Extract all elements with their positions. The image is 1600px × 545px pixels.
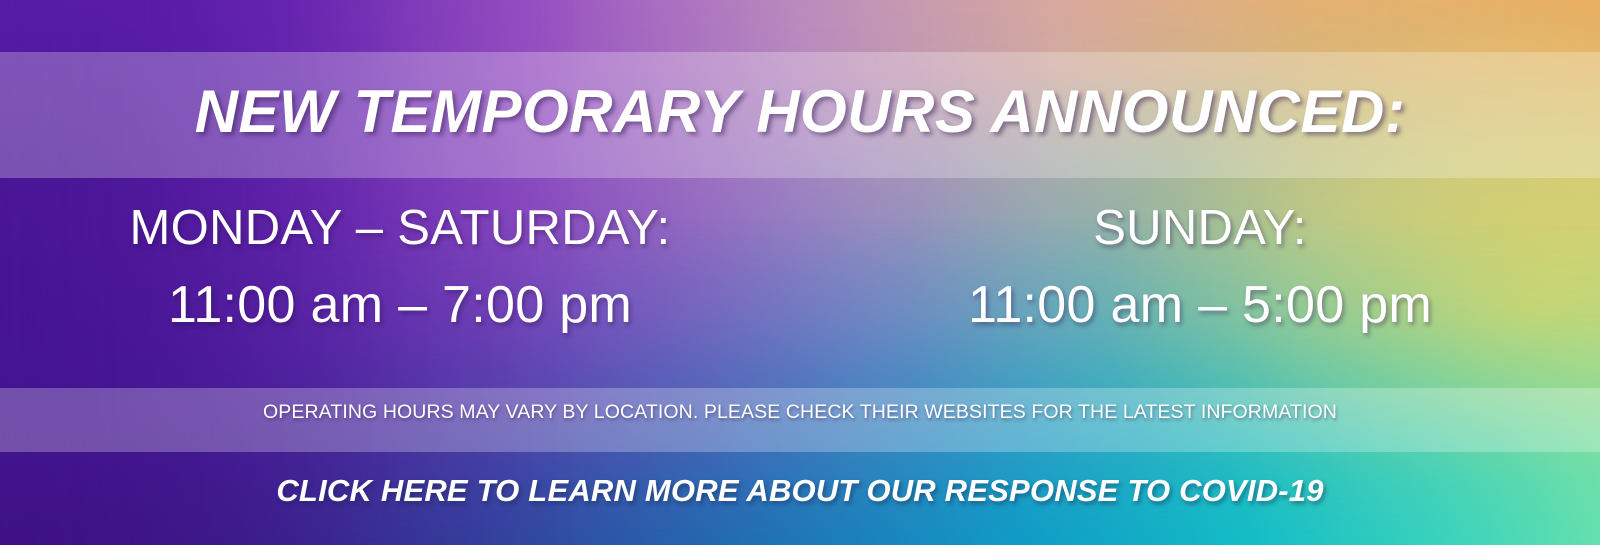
sunday-day-label: SUNDAY:	[800, 204, 1600, 253]
sunday-time-label: 11:00 am – 5:00 pm	[800, 279, 1600, 331]
covid-response-link[interactable]: CLICK HERE TO LEARN MORE ABOUT OUR RESPO…	[0, 475, 1600, 506]
banner-fineprint: OPERATING HOURS MAY VARY BY LOCATION. PL…	[0, 403, 1600, 423]
hours-grid: MONDAY – SATURDAY: 11:00 am – 7:00 pm SU…	[0, 204, 1600, 331]
banner-content: NEW TEMPORARY HOURS ANNOUNCED: MONDAY – …	[0, 0, 1600, 545]
hours-column-sunday: SUNDAY: 11:00 am – 5:00 pm	[800, 204, 1600, 331]
promo-banner: NEW TEMPORARY HOURS ANNOUNCED: MONDAY – …	[0, 0, 1600, 545]
weekday-day-label: MONDAY – SATURDAY:	[0, 204, 800, 253]
weekday-time-label: 11:00 am – 7:00 pm	[0, 279, 800, 331]
hours-column-weekday: MONDAY – SATURDAY: 11:00 am – 7:00 pm	[0, 204, 800, 331]
banner-headline: NEW TEMPORARY HOURS ANNOUNCED:	[0, 82, 1600, 142]
